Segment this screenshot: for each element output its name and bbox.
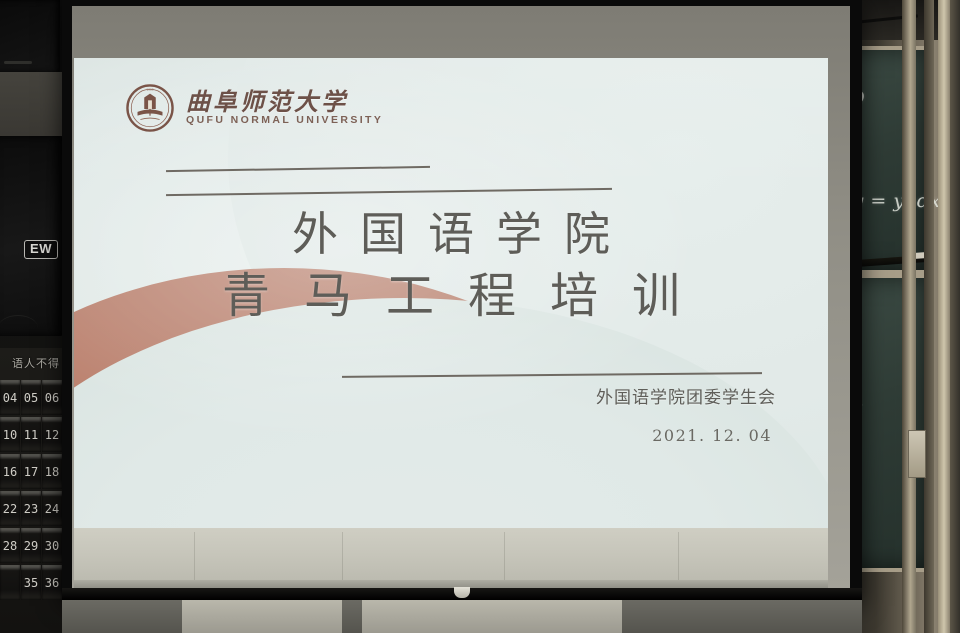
locker-cell[interactable]: 17 xyxy=(21,454,41,489)
locker-cell[interactable]: 35 xyxy=(21,565,41,600)
university-logo-text: 曲阜师范大学 QUFU NORMAL UNIVERSITY xyxy=(186,90,383,126)
wall-speaker: EW xyxy=(0,136,62,336)
locker-number-board: 语人不得 04 05 06 10 11 12 16 17 18 22 23 24… xyxy=(0,348,64,633)
wall-pillar xyxy=(938,0,950,633)
slide-title-block: 外国语学院 青马工程培训 xyxy=(74,204,828,328)
slide-footer: 外国语学院团委学生会 2021. 12. 04 xyxy=(596,386,776,445)
university-seal-icon: 1905 xyxy=(126,84,174,132)
organization-name: 外国语学院团委学生会 xyxy=(596,386,776,412)
locker-cell[interactable]: 04 xyxy=(0,380,20,415)
wall-below-screen xyxy=(62,600,862,633)
locker-board-header: 语人不得 xyxy=(0,348,62,378)
locker-cell[interactable]: 24 xyxy=(42,491,62,526)
wall-pillar xyxy=(924,0,934,633)
classroom-scene: EW 语人不得 04 05 06 10 11 12 16 17 18 22 23… xyxy=(0,0,960,633)
projection-screen-surface: 1905 曲阜师范大学 QUFU NORMAL UNIVERSITY 外国语学院… xyxy=(74,58,828,528)
university-name-cn: 曲阜师范大学 xyxy=(186,90,383,114)
screen-fabric-skirt xyxy=(74,528,828,588)
wall-switch-box[interactable] xyxy=(908,430,926,478)
locker-cell[interactable]: 11 xyxy=(21,417,41,452)
locker-cell[interactable]: 16 xyxy=(0,454,20,489)
wall-pillar xyxy=(950,0,960,633)
slide-title-line-2: 青马工程培训 xyxy=(74,265,828,328)
ew-label: EW xyxy=(24,240,58,259)
locker-cell[interactable]: 06 xyxy=(42,380,62,415)
locker-grid: 04 05 06 10 11 12 16 17 18 22 23 24 28 2… xyxy=(0,378,62,600)
locker-cell[interactable]: 12 xyxy=(42,417,62,452)
ceiling-speaker xyxy=(0,0,60,74)
slide-title-line-1: 外国语学院 xyxy=(74,204,828,265)
locker-cell[interactable]: 18 xyxy=(42,454,62,489)
locker-cell[interactable]: 22 xyxy=(0,491,20,526)
wall-pillar xyxy=(902,0,916,633)
locker-cell[interactable]: 29 xyxy=(21,528,41,563)
locker-cell[interactable]: 05 xyxy=(21,380,41,415)
svg-text:1905: 1905 xyxy=(146,88,153,92)
locker-cell[interactable]: 23 xyxy=(21,491,41,526)
locker-cell[interactable]: 10 xyxy=(0,417,20,452)
screen-pull-knob[interactable] xyxy=(454,587,470,598)
presentation-slide: 1905 曲阜师范大学 QUFU NORMAL UNIVERSITY 外国语学院… xyxy=(74,58,828,528)
locker-cell[interactable]: 30 xyxy=(42,528,62,563)
screen-bottom-bar xyxy=(62,588,862,600)
locker-cell[interactable]: 28 xyxy=(0,528,20,563)
university-name-en: QUFU NORMAL UNIVERSITY xyxy=(186,115,383,126)
university-logo: 1905 曲阜师范大学 QUFU NORMAL UNIVERSITY xyxy=(126,84,383,132)
projection-screen-frame: 1905 曲阜师范大学 QUFU NORMAL UNIVERSITY 外国语学院… xyxy=(62,0,862,600)
locker-cell[interactable] xyxy=(0,565,20,600)
locker-cell[interactable]: 36 xyxy=(42,565,62,600)
presentation-date: 2021. 12. 04 xyxy=(596,426,772,445)
